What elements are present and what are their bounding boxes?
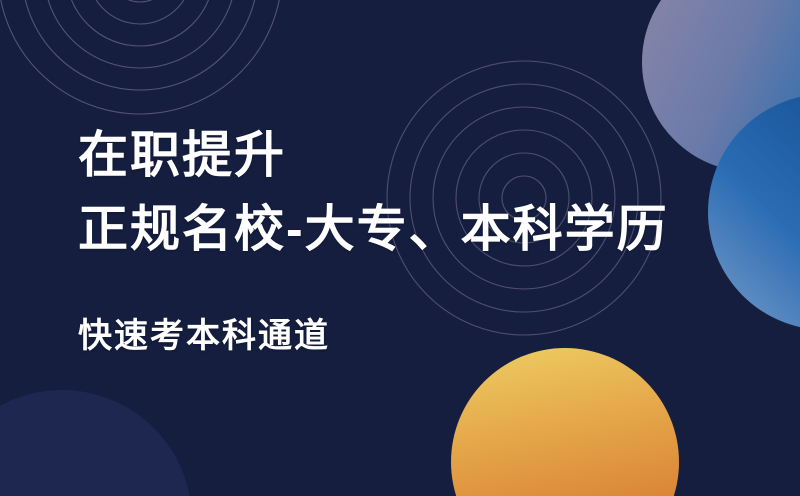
headline-group: 在职提升 正规名校-大专、本科学历 — [78, 118, 669, 266]
soft-navy-circle — [0, 390, 192, 496]
top-left-rings — [0, 0, 282, 114]
promo-banner: 在职提升 正规名校-大专、本科学历 快速考本科通道 — [0, 0, 800, 496]
banner-copy: 在职提升 正规名校-大专、本科学历 快速考本科通道 — [78, 118, 669, 358]
headline-line-2: 正规名校-大专、本科学历 — [78, 192, 669, 266]
headline-line-1: 在职提升 — [78, 118, 669, 192]
blue-circle — [708, 94, 800, 330]
sub-headline: 快速考本科通道 — [78, 314, 669, 358]
orange-circle — [451, 348, 679, 496]
